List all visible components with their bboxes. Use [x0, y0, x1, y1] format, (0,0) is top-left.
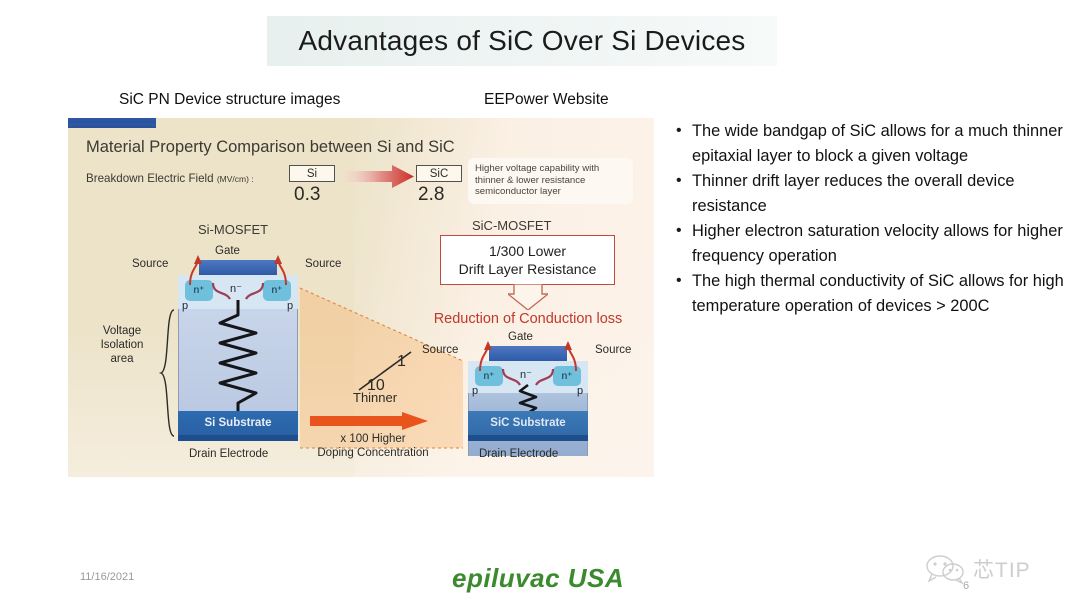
sic-substrate-base — [468, 435, 588, 441]
svg-text:1: 1 — [397, 353, 406, 370]
drift-resistance-callout: 1/300 Lower Drift Layer Resistance — [440, 235, 615, 285]
caption-left: SiC PN Device structure images — [119, 91, 340, 109]
conduction-loss-caption: Reduction of Conduction loss — [412, 311, 644, 327]
voltage-isolation-bracket-icon — [156, 308, 178, 438]
sic-mosfet-title: SiC-MOSFET — [472, 218, 551, 233]
orange-arrow-icon — [310, 412, 428, 430]
breakdown-field-unit: (MV/cm) : — [217, 174, 254, 184]
list-item: • The wide bandgap of SiC allows for a m… — [676, 119, 1068, 168]
si-breakdown-value: 0.3 — [294, 184, 320, 206]
si-mosfet-title: Si-MOSFET — [198, 222, 268, 237]
company-logo: epiluvac USA — [452, 563, 624, 594]
list-item: • Higher electron saturation velocity al… — [676, 219, 1068, 268]
bullet-text: Thinner drift layer reduces the overall … — [692, 169, 1068, 218]
down-arrow-icon — [508, 284, 548, 310]
sic-source-label-left: Source — [422, 344, 458, 356]
bullet-list: • The wide bandgap of SiC allows for a m… — [676, 119, 1068, 319]
doping-concentration-label: x 100 Higher Doping Concentration — [293, 432, 453, 460]
bullet-text: The wide bandgap of SiC allows for a muc… — [692, 119, 1068, 168]
page-title: Advantages of SiC Over Si Devices — [298, 25, 745, 57]
sic-chip-label: SiC — [416, 165, 462, 182]
sic-breakdown-value: 2.8 — [418, 184, 444, 206]
sic-substrate: SiC Substrate — [468, 411, 588, 435]
si-substrate: Si Substrate — [178, 411, 298, 435]
breakdown-field-label: Breakdown Electric Field (MV/cm) : — [86, 172, 254, 185]
list-item: • Thinner drift layer reduces the overal… — [676, 169, 1068, 218]
si-source-label-left: Source — [132, 258, 168, 270]
thinner-label: Thinner — [353, 390, 397, 405]
slide-date: 11/16/2021 — [80, 571, 134, 583]
bullet-marker-icon: • — [676, 269, 692, 318]
watermark-text: 芯TIP — [973, 554, 1031, 584]
voltage-isolation-label: Voltage Isolation area — [88, 324, 156, 366]
sic-source-label-right: Source — [595, 344, 631, 356]
figure-title: Material Property Comparison between Si … — [86, 138, 455, 157]
device-comparison-figure: Material Property Comparison between Si … — [68, 118, 654, 477]
caption-right: EEPower Website — [484, 91, 609, 109]
callout-line-1: 1/300 Lower — [489, 242, 566, 260]
bullet-marker-icon: • — [676, 119, 692, 168]
bullet-text: The high thermal conductivity of SiC all… — [692, 269, 1068, 318]
sic-current-path-icon — [458, 339, 598, 419]
doping-line-1: x 100 Higher — [293, 432, 453, 446]
sic-drain-label: Drain Electrode — [479, 448, 558, 460]
breakdown-note: Higher voltage capability with thinner &… — [468, 158, 633, 204]
si-substrate-base — [178, 435, 298, 441]
si-source-label-right: Source — [305, 258, 341, 270]
page-number: 6 — [963, 580, 969, 592]
bullet-marker-icon: • — [676, 219, 692, 268]
si-drain-label: Drain Electrode — [189, 448, 268, 460]
bullet-text: Higher electron saturation velocity allo… — [692, 219, 1068, 268]
doping-line-2: Doping Concentration — [293, 446, 453, 460]
si-chip-label: Si — [289, 165, 335, 182]
list-item: • The high thermal conductivity of SiC a… — [676, 269, 1068, 318]
red-arrow-icon — [342, 164, 414, 189]
watermark: 芯TIP — [925, 548, 1075, 590]
breakdown-field-text: Breakdown Electric Field — [86, 172, 214, 185]
slide-title-banner: Advantages of SiC Over Si Devices — [267, 16, 777, 66]
wechat-icon — [925, 554, 967, 584]
callout-line-2: Drift Layer Resistance — [459, 260, 597, 278]
bullet-marker-icon: • — [676, 169, 692, 218]
one-tenth-fraction-icon: 1 10 — [353, 348, 423, 394]
